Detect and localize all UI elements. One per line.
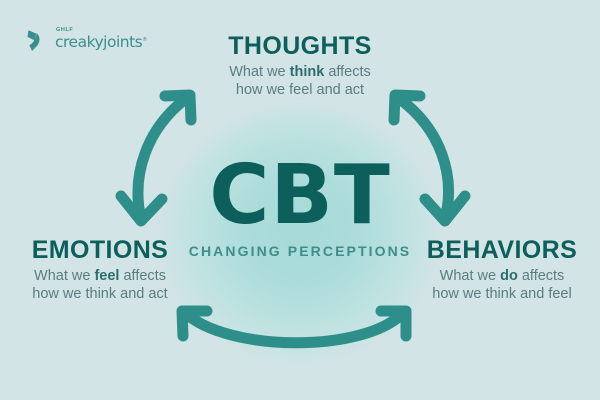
node-emotions-line1-pre: What we xyxy=(34,268,94,284)
arrow-emotions-behaviors xyxy=(182,311,406,343)
node-behaviors-line1-pre: What we xyxy=(440,268,500,284)
node-behaviors-description: What we do affects how we think and feel xyxy=(404,267,600,303)
node-behaviors-line1-emphasis: do xyxy=(500,268,518,284)
cbt-cycle-infographic: GHLF creakyjoints® THOUGHTS What we thin… xyxy=(0,0,600,400)
node-thoughts-description: What we think affects how we feel and ac… xyxy=(0,63,600,99)
node-thoughts-line2: how we feel and act xyxy=(236,82,364,98)
node-emotions-line1-post: affects xyxy=(119,268,165,284)
node-thoughts-line1-pre: What we xyxy=(229,64,289,80)
node-emotions-line2: how we think and act xyxy=(32,286,167,302)
cbt-tagline: CHANGING PERCEPTIONS xyxy=(0,243,600,259)
node-emotions-description: What we feel affects how we think and ac… xyxy=(2,267,198,303)
node-thoughts-line1-post: affects xyxy=(324,64,370,80)
cbt-acronym: CBT xyxy=(0,155,600,237)
node-thoughts-title: THOUGHTS xyxy=(0,32,600,60)
node-thoughts: THOUGHTS What we think affects how we fe… xyxy=(0,32,600,99)
node-thoughts-line1-emphasis: think xyxy=(290,64,325,80)
node-behaviors-line2: how we think and feel xyxy=(432,286,571,302)
node-emotions-line1-emphasis: feel xyxy=(94,268,119,284)
node-behaviors-line1-post: affects xyxy=(518,268,564,284)
centre-label: CBT CHANGING PERCEPTIONS xyxy=(0,155,600,259)
